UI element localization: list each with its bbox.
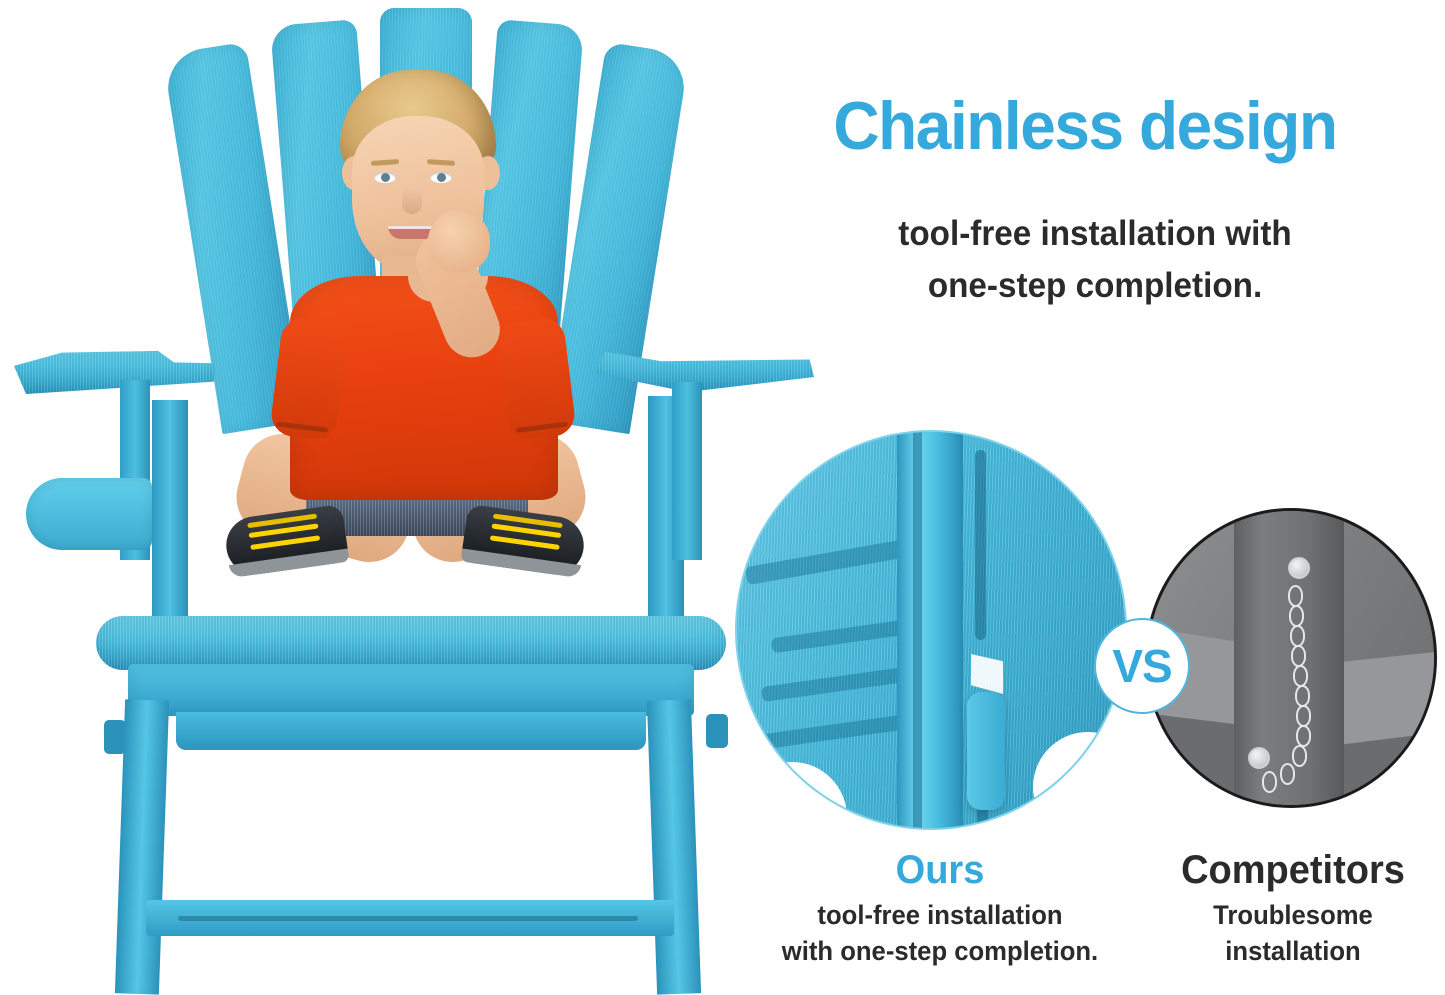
subheading-line-1: tool-free installation with (782, 208, 1409, 260)
eye-left (374, 172, 396, 183)
ours-title: Ours (755, 848, 1126, 892)
competitors-caption-line-2: installation (1151, 934, 1436, 970)
competitors-title: Competitors (1151, 848, 1436, 892)
ours-caption-line-1: tool-free installation (755, 898, 1126, 934)
page-title: Chainless design (747, 92, 1424, 160)
chair-cross-stretcher (146, 900, 674, 936)
product-hero-photo (0, 0, 745, 994)
shoelace (249, 523, 319, 538)
armrest-left (14, 350, 214, 394)
subheading-line-2: one-step completion. (782, 260, 1409, 312)
marketing-copy-panel: Chainless design tool-free installation … (745, 0, 1445, 994)
shoe-sole (461, 548, 582, 578)
chair-lower-apron (176, 712, 646, 750)
ours-caption: tool-free installation with one-step com… (755, 898, 1126, 969)
competitors-caption-block: Competitors Troublesome installation (1143, 848, 1443, 969)
sleeve-right (497, 316, 577, 441)
cup-holder (26, 478, 152, 550)
locking-tab (967, 692, 1005, 810)
armrest-support-right (672, 382, 702, 560)
metal-chain (1288, 565, 1304, 781)
shoelace (491, 523, 561, 538)
subheading: tool-free installation with one-step com… (782, 208, 1409, 312)
ours-detail-photo (735, 430, 1127, 830)
side-groove-upper (975, 450, 986, 640)
competitors-caption-line-1: Troublesome (1151, 898, 1436, 934)
eye-right (430, 172, 452, 183)
nose (402, 188, 422, 214)
hand-on-chin (428, 210, 490, 272)
chair-front-leg-right (647, 699, 701, 994)
competitors-caption: Troublesome installation (1151, 898, 1436, 969)
ours-caption-block: Ours tool-free installation with one-ste… (745, 848, 1135, 969)
chain-anchor-bottom (1248, 747, 1270, 769)
chair-bracket-right (1338, 651, 1437, 745)
child-model (232, 60, 592, 660)
chair-seat (96, 616, 726, 670)
vs-badge: VS (1094, 618, 1190, 714)
chair-center-spine (897, 430, 963, 830)
sleeve-left (269, 316, 349, 441)
shoe-sole (229, 548, 350, 578)
ours-caption-line-2: with one-step completion. (755, 934, 1126, 970)
orange-tshirt (290, 276, 558, 500)
chair-front-apron (128, 664, 694, 716)
frame-notch-right (706, 714, 728, 748)
chair-front-leg-left (115, 699, 169, 994)
spine-groove (913, 430, 922, 830)
